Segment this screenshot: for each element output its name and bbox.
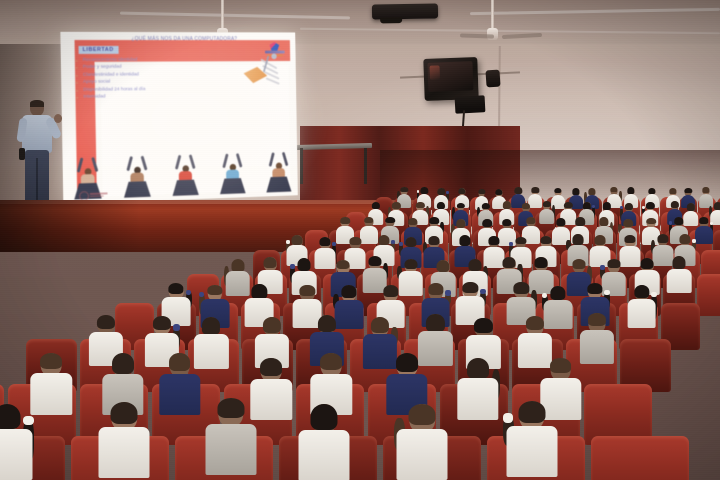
hair (541, 236, 552, 245)
hair (0, 404, 20, 429)
hair (368, 256, 381, 266)
hair-bow (651, 292, 657, 298)
list-item: Intensidad (75, 93, 242, 100)
hair (522, 203, 530, 210)
hair (646, 202, 654, 209)
hair (607, 259, 620, 268)
tv-bracket (455, 95, 486, 114)
hair (341, 285, 356, 298)
hair (404, 259, 417, 270)
hair (153, 316, 171, 330)
projector-icon (372, 3, 438, 19)
hand-graphic-icon (243, 57, 289, 95)
torso (457, 378, 498, 419)
hair-bow (173, 324, 180, 331)
hair (482, 219, 492, 227)
audience-member (627, 285, 656, 330)
audience-member (695, 217, 713, 245)
hair (340, 217, 350, 224)
hair (595, 235, 606, 245)
hair (474, 318, 492, 333)
hair (481, 203, 489, 210)
hair (610, 187, 617, 192)
hair (556, 218, 566, 226)
hair (169, 283, 184, 294)
hair (572, 188, 579, 194)
hair-bow (509, 242, 513, 246)
hair (503, 201, 511, 208)
audience-member (580, 313, 614, 367)
hair (634, 285, 649, 298)
hair (502, 219, 512, 226)
hair (437, 260, 450, 272)
audience-member (0, 404, 32, 480)
audience-member (159, 353, 200, 418)
hair (430, 217, 440, 224)
hair (526, 316, 544, 330)
hair (385, 217, 395, 223)
audience-member (31, 353, 72, 418)
hair (572, 259, 585, 269)
hair (378, 235, 389, 246)
hair (514, 282, 529, 293)
hair (40, 353, 62, 369)
hair (672, 256, 685, 269)
audience-member (299, 404, 350, 480)
hair-bow (480, 289, 486, 295)
hair-bow (446, 191, 449, 194)
auditorium-photo: ¿QUÉ MÁS NOS DA UNA COMPUTADORA? LIBERTA… (0, 0, 720, 480)
hair (383, 285, 398, 297)
audience (0, 150, 720, 480)
hair (371, 202, 379, 209)
hair (437, 202, 445, 209)
hair (535, 257, 548, 267)
slide-bullet-list: Reconocimiento identidad Poder y segurid… (75, 57, 242, 102)
hair-bow (290, 264, 295, 269)
hair-bow (286, 240, 290, 244)
television-icon (423, 57, 478, 101)
list-item: Poder y seguridad (75, 64, 242, 70)
hair (503, 257, 516, 268)
hair (679, 234, 690, 244)
hair (207, 285, 222, 295)
hair (554, 188, 561, 193)
hair (702, 187, 709, 192)
auditorium-seat (697, 274, 720, 316)
hair (428, 283, 443, 294)
hair (371, 317, 389, 333)
hair-bow (503, 413, 513, 423)
hair (515, 237, 526, 245)
torso (31, 373, 72, 414)
hair (456, 219, 466, 228)
hair (97, 315, 115, 329)
hair (685, 188, 692, 194)
hair (405, 237, 416, 248)
hair (458, 188, 465, 195)
torso (667, 269, 692, 294)
list-item: Reconocimiento identidad (75, 57, 242, 63)
hair (641, 258, 654, 270)
hair (457, 203, 465, 209)
hair (401, 187, 408, 192)
hair-bow (417, 190, 420, 193)
hair (543, 201, 551, 208)
hair (298, 258, 311, 271)
hair (588, 313, 606, 326)
torso (251, 379, 292, 420)
hair (392, 202, 400, 209)
hair (573, 234, 584, 245)
torso (695, 226, 713, 244)
hair (671, 201, 679, 208)
hair (588, 188, 595, 195)
torso (397, 429, 448, 480)
hair (409, 404, 436, 425)
hair (311, 404, 338, 430)
list-item: Clandestinidad e identidad (75, 72, 242, 78)
hair-bow (642, 206, 645, 209)
hair (252, 284, 267, 299)
hair (263, 317, 281, 333)
hair (217, 398, 244, 418)
hair (364, 217, 374, 223)
hair (625, 235, 636, 243)
torso (580, 330, 614, 364)
hair (550, 358, 572, 373)
hair (429, 236, 440, 244)
hair (623, 219, 633, 227)
hair (495, 189, 502, 196)
hair (575, 217, 585, 225)
list-item: Disponibilidad 24 horas al día (75, 86, 242, 93)
audience-member (506, 401, 557, 480)
hair (469, 259, 482, 271)
hair (169, 353, 191, 371)
hair (526, 217, 536, 224)
hair (625, 203, 633, 210)
hair (488, 236, 499, 244)
audience-member (397, 404, 448, 480)
hair (318, 315, 336, 332)
audience-member (667, 256, 692, 295)
torso (0, 429, 32, 480)
auditorium-seat (591, 436, 689, 480)
hair-bow (445, 290, 451, 296)
audience-member (99, 402, 150, 480)
hair (687, 203, 695, 211)
hair (647, 218, 657, 224)
hair (459, 235, 470, 245)
hair (202, 317, 220, 334)
hair (669, 188, 676, 194)
list-item: Apoyo social (75, 79, 242, 85)
torso (299, 430, 350, 480)
hair (599, 217, 609, 226)
audience-member (251, 358, 292, 423)
hair-bow (391, 240, 395, 244)
hair (408, 218, 418, 225)
torso (627, 299, 656, 328)
slide-keyword: LIBERTAD (79, 46, 119, 54)
hair-bow (23, 416, 33, 426)
hair (657, 234, 668, 243)
hair (416, 202, 424, 208)
hair (300, 285, 315, 296)
hair (264, 257, 277, 268)
hair (648, 188, 655, 194)
torso (506, 426, 557, 477)
hair (550, 286, 565, 300)
hair-bow (669, 221, 673, 224)
hair (320, 237, 331, 246)
hair (426, 314, 444, 331)
hair-bow (600, 265, 605, 270)
torso (205, 424, 256, 475)
hair (260, 358, 282, 376)
hair (587, 283, 602, 294)
torso (159, 374, 200, 415)
hair (467, 358, 489, 379)
hair (463, 282, 478, 293)
hair (111, 402, 138, 424)
hair (674, 217, 684, 226)
hair (532, 187, 539, 192)
hair (231, 259, 244, 271)
hair (112, 353, 134, 374)
hair (350, 237, 361, 245)
hair (603, 202, 611, 210)
hair (518, 401, 545, 423)
hair (320, 353, 342, 370)
hair (564, 202, 572, 209)
speaker-icon (485, 70, 500, 88)
slide-title: ¿QUÉ MÁS NOS DA UNA COMPUTADORA? (82, 36, 282, 42)
hair (478, 189, 485, 194)
hair (292, 235, 303, 245)
audience-member (457, 358, 498, 423)
audience-member (205, 398, 256, 478)
hair (699, 217, 709, 224)
hair (337, 260, 350, 270)
hair-bow (399, 242, 403, 246)
hair (396, 353, 418, 371)
torso (99, 427, 150, 478)
